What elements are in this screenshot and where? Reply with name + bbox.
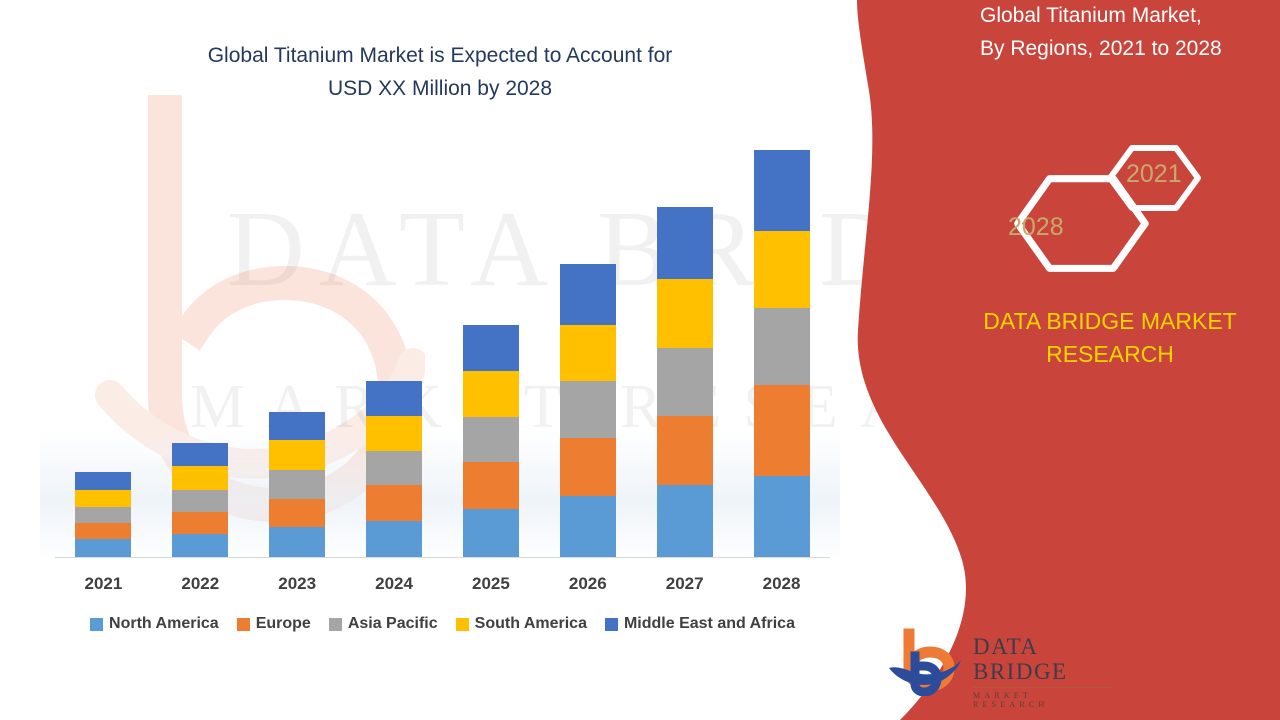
bar-segment[interactable] xyxy=(75,523,131,539)
x-axis-label: 2023 xyxy=(249,574,345,594)
logo-name-sub: MARKET RESEARCH xyxy=(973,691,1113,709)
legend-swatch-icon xyxy=(90,618,103,631)
legend-label: North America xyxy=(109,615,219,633)
hexagon-label-2021: 2021 xyxy=(1126,160,1182,189)
bar-group[interactable] xyxy=(366,381,422,558)
bar-segment[interactable] xyxy=(366,416,422,451)
plot-area xyxy=(55,150,830,558)
bar-segment[interactable] xyxy=(560,381,616,438)
x-axis-line xyxy=(55,557,830,558)
legend-label: South America xyxy=(475,615,587,633)
bar-group[interactable] xyxy=(463,325,519,558)
hexagon-badges: 2028 2021 xyxy=(960,130,1260,290)
x-axis-label: 2022 xyxy=(152,574,248,594)
bar-segment[interactable] xyxy=(269,499,325,528)
bar-segment[interactable] xyxy=(75,472,131,490)
brand-text: DATA BRIDGE MARKET RESEARCH xyxy=(940,305,1280,372)
bar-group[interactable] xyxy=(172,443,228,558)
bar-segment[interactable] xyxy=(269,527,325,558)
bar-segment[interactable] xyxy=(560,496,616,558)
x-axis-labels: 20212022202320242025202620272028 xyxy=(55,566,830,600)
bar-segment[interactable] xyxy=(657,485,713,558)
legend-swatch-icon xyxy=(605,618,618,631)
bar-segment[interactable] xyxy=(172,512,228,534)
chart-title: Global Titanium Market is Expected to Ac… xyxy=(60,40,820,105)
x-axis-label: 2021 xyxy=(55,574,151,594)
x-axis-label: 2026 xyxy=(540,574,636,594)
bar-group[interactable] xyxy=(75,472,131,558)
chart-title-line-2: USD XX Million by 2028 xyxy=(60,73,820,106)
bar-segment[interactable] xyxy=(172,466,228,490)
legend-label: Middle East and Africa xyxy=(624,615,795,633)
brand-line-2: RESEARCH xyxy=(940,338,1280,371)
bar-group[interactable] xyxy=(560,264,616,558)
x-axis-label: 2028 xyxy=(734,574,830,594)
bar-segment[interactable] xyxy=(657,416,713,485)
bar-segment[interactable] xyxy=(463,509,519,558)
chart-panel: DATA BRIDGE MARKET RESEARCH Global Titan… xyxy=(0,0,880,720)
bar-group[interactable] xyxy=(754,150,810,558)
bar-segment[interactable] xyxy=(560,325,616,381)
red-panel-content: Global Titanium Market, By Regions, 2021… xyxy=(940,0,1280,720)
legend-item-asia-pacific[interactable]: Asia Pacific xyxy=(329,615,438,633)
bar-segment[interactable] xyxy=(463,462,519,508)
data-bridge-mark-icon xyxy=(885,628,969,696)
bar-group[interactable] xyxy=(269,412,325,558)
bar-segment[interactable] xyxy=(269,440,325,470)
bar-segment[interactable] xyxy=(269,470,325,499)
legend-item-europe[interactable]: Europe xyxy=(237,615,311,633)
bar-segment[interactable] xyxy=(560,264,616,324)
bar-segment[interactable] xyxy=(657,279,713,348)
logo-name-main: DATA BRIDGE xyxy=(973,634,1113,685)
bar-segment[interactable] xyxy=(463,371,519,417)
legend-swatch-icon xyxy=(237,618,250,631)
hexagon-label-2028: 2028 xyxy=(1008,213,1064,242)
bar-segment[interactable] xyxy=(754,308,810,385)
legend-item-middle-east-and-africa[interactable]: Middle East and Africa xyxy=(605,615,795,633)
right-panel-heading: Global Titanium Market, By Regions, 2021… xyxy=(980,0,1280,65)
bar-segment[interactable] xyxy=(269,412,325,441)
legend-label: Asia Pacific xyxy=(348,615,438,633)
data-bridge-logo: DATA BRIDGE MARKET RESEARCH xyxy=(885,628,1115,700)
x-axis-label: 2024 xyxy=(346,574,442,594)
legend-label: Europe xyxy=(256,615,311,633)
chart-title-line-1: Global Titanium Market is Expected to Ac… xyxy=(60,40,820,73)
logo-wordmark: DATA BRIDGE MARKET RESEARCH xyxy=(973,634,1113,709)
right-heading-line-1: Global Titanium Market, xyxy=(980,0,1280,33)
bar-segment[interactable] xyxy=(75,539,131,558)
bar-segment[interactable] xyxy=(657,207,713,278)
brand-line-1: DATA BRIDGE MARKET xyxy=(940,305,1280,338)
bar-segment[interactable] xyxy=(366,451,422,485)
chart-legend: North AmericaEuropeAsia PacificSouth Ame… xyxy=(55,615,830,633)
bar-segment[interactable] xyxy=(75,507,131,522)
legend-item-south-america[interactable]: South America xyxy=(456,615,587,633)
bar-segment[interactable] xyxy=(754,476,810,558)
right-heading-line-2: By Regions, 2021 to 2028 xyxy=(980,33,1280,66)
legend-swatch-icon xyxy=(329,618,342,631)
bar-segment[interactable] xyxy=(172,534,228,558)
bar-segment[interactable] xyxy=(463,325,519,371)
x-axis-label: 2025 xyxy=(443,574,539,594)
bar-segment[interactable] xyxy=(366,485,422,520)
bar-segment[interactable] xyxy=(172,490,228,512)
x-axis-label: 2027 xyxy=(637,574,733,594)
bar-segment[interactable] xyxy=(463,417,519,462)
bar-group[interactable] xyxy=(657,207,713,558)
legend-item-north-america[interactable]: North America xyxy=(90,615,219,633)
legend-swatch-icon xyxy=(456,618,469,631)
bar-segment[interactable] xyxy=(560,438,616,496)
bar-segment[interactable] xyxy=(366,521,422,558)
bar-segment[interactable] xyxy=(657,348,713,416)
bar-segment[interactable] xyxy=(172,443,228,466)
hexagon-outlines-icon xyxy=(960,130,1260,290)
logo-divider xyxy=(973,687,1113,688)
bar-segment[interactable] xyxy=(754,150,810,231)
bar-segment[interactable] xyxy=(75,490,131,508)
bar-segment[interactable] xyxy=(366,381,422,416)
bar-segment[interactable] xyxy=(754,231,810,308)
bar-segment[interactable] xyxy=(754,385,810,475)
